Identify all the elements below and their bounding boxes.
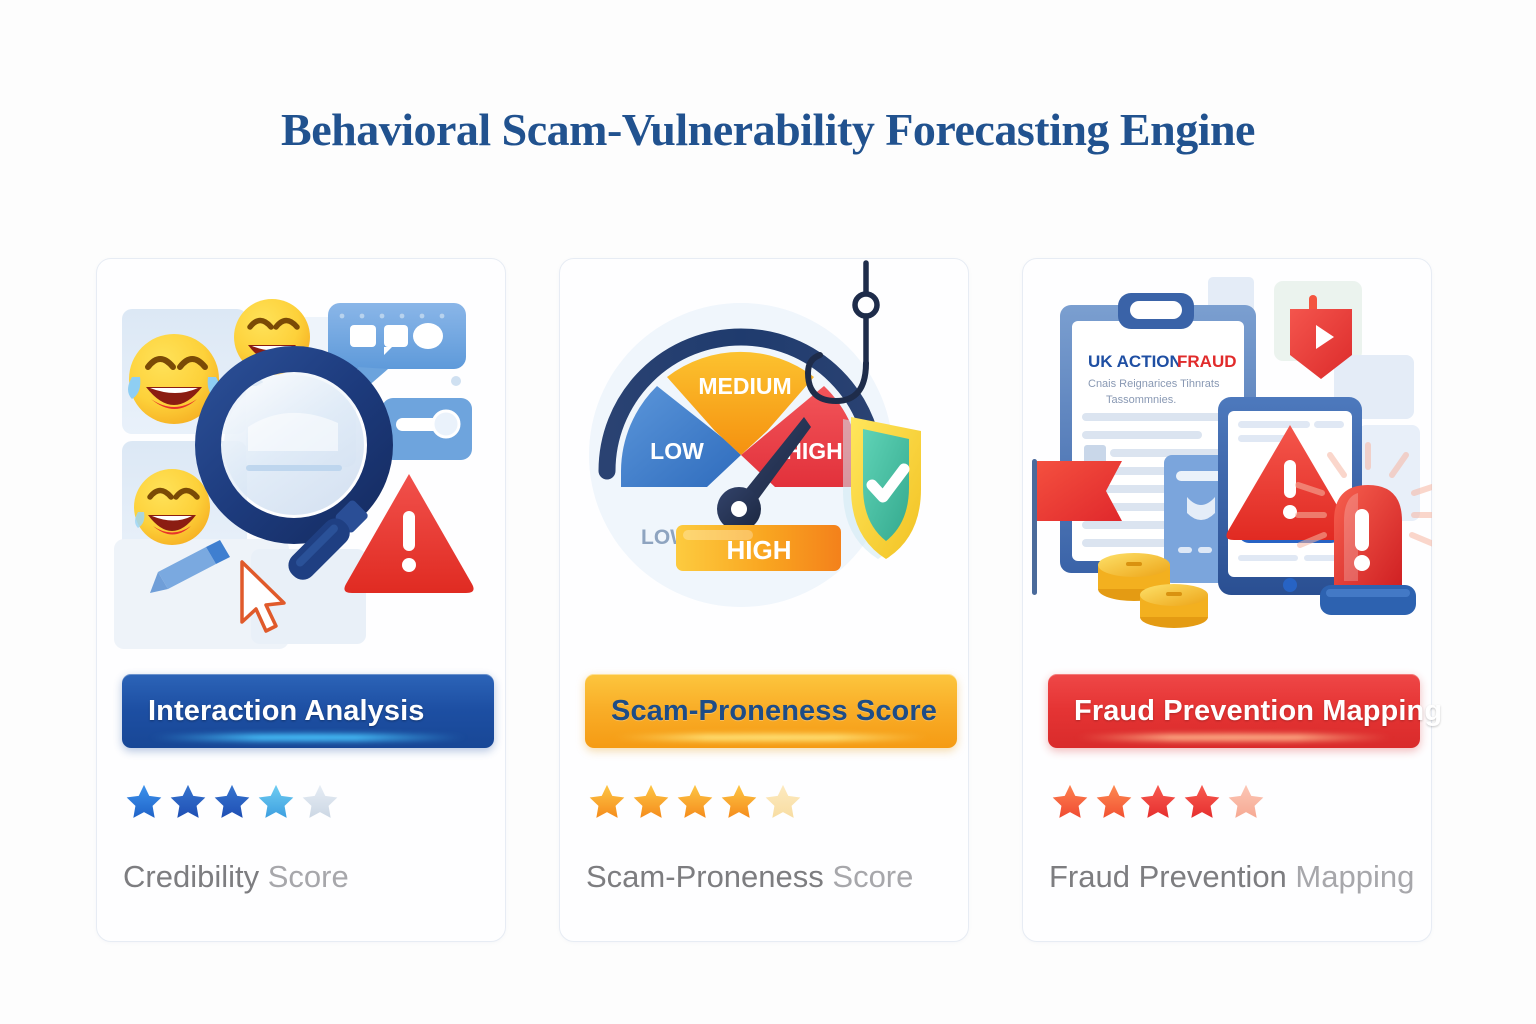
clipboard-subtitle-line-2: Tassommnies. — [1106, 394, 1176, 406]
page-title: Behavioral Scam-Vulnerability Forecastin… — [0, 103, 1536, 156]
caption-lead: Credibility — [123, 859, 259, 894]
star-icon[interactable] — [674, 781, 716, 823]
smiling-emoji — [134, 469, 210, 545]
caption-lead: Fraud Prevention — [1049, 859, 1287, 894]
caption-lead: Scam-Proneness — [586, 859, 824, 894]
card-badge-label: Fraud Prevention Mapping — [1074, 695, 1442, 728]
star-icon[interactable] — [255, 781, 297, 823]
star-icon[interactable] — [123, 781, 165, 823]
star-icon[interactable] — [1181, 781, 1223, 823]
star-icon[interactable] — [167, 781, 209, 823]
star-icon-empty[interactable] — [1225, 781, 1267, 823]
high-badge-pill: HIGH — [676, 525, 841, 571]
star-icon[interactable] — [1049, 781, 1091, 823]
star-icon[interactable] — [718, 781, 760, 823]
card-badge-label: Interaction Analysis — [148, 695, 425, 728]
star-icon-empty[interactable] — [299, 781, 341, 823]
badge-glow — [611, 734, 931, 741]
card-scam-proneness-score[interactable]: LOW MEDIUM HIGH LOW — [559, 258, 969, 942]
toggle-switch-icon — [382, 398, 472, 460]
star-icon[interactable] — [586, 781, 628, 823]
clipboard-heading-part-1: UK ACTION — [1088, 352, 1182, 371]
star-icon[interactable] — [630, 781, 672, 823]
star-icon[interactable] — [1093, 781, 1135, 823]
rating-stars-interaction-analysis[interactable] — [123, 781, 341, 823]
gauge-segment-label-medium: MEDIUM — [698, 373, 791, 399]
gauge-segment-label-low: LOW — [650, 438, 704, 464]
caption-tail: Score — [824, 859, 914, 894]
caption-tail: Score — [259, 859, 349, 894]
star-icon[interactable] — [1137, 781, 1179, 823]
scam-proneness-gauge-illustration: LOW MEDIUM HIGH LOW — [559, 259, 969, 659]
card-badge-label: Scam-Proneness Score — [611, 695, 937, 728]
rating-stars-fraud-prevention[interactable] — [1049, 781, 1267, 823]
card-interaction-analysis[interactable]: Interaction Analysis Credibility Score — [96, 258, 506, 942]
card-badge-fraud-prevention-mapping[interactable]: Fraud Prevention Mapping — [1048, 674, 1420, 748]
interaction-analysis-illustration — [96, 259, 506, 659]
clipboard-subtitle-line-1: Cnais Reignarices Tihnrats — [1088, 378, 1220, 390]
card-caption-interaction-analysis: Credibility Score — [123, 859, 349, 895]
fraud-prevention-illustration: UK ACTION FRAUD Cnais Reignarices Tihnra… — [1022, 259, 1432, 659]
card-badge-interaction-analysis[interactable]: Interaction Analysis — [122, 674, 494, 748]
card-caption-scam-proneness: Scam-Proneness Score — [586, 859, 913, 895]
card-caption-fraud-prevention: Fraud Prevention Mapping — [1049, 859, 1414, 895]
page-root: Behavioral Scam-Vulnerability Forecastin… — [0, 0, 1536, 1024]
clipboard-heading-part-2: FRAUD — [1177, 352, 1237, 371]
rating-stars-scam-proneness[interactable] — [586, 781, 804, 823]
card-badge-scam-proneness-score[interactable]: Scam-Proneness Score — [585, 674, 957, 748]
star-icon[interactable] — [211, 781, 253, 823]
caption-tail: Mapping — [1287, 859, 1415, 894]
card-fraud-prevention-mapping[interactable]: UK ACTION FRAUD Cnais Reignarices Tihnra… — [1022, 258, 1432, 942]
gauge-pill-label: HIGH — [727, 535, 792, 565]
star-icon-empty[interactable] — [762, 781, 804, 823]
badge-glow — [1074, 734, 1394, 741]
card-row: Interaction Analysis Credibility Score — [96, 258, 1442, 942]
badge-glow — [148, 734, 468, 741]
